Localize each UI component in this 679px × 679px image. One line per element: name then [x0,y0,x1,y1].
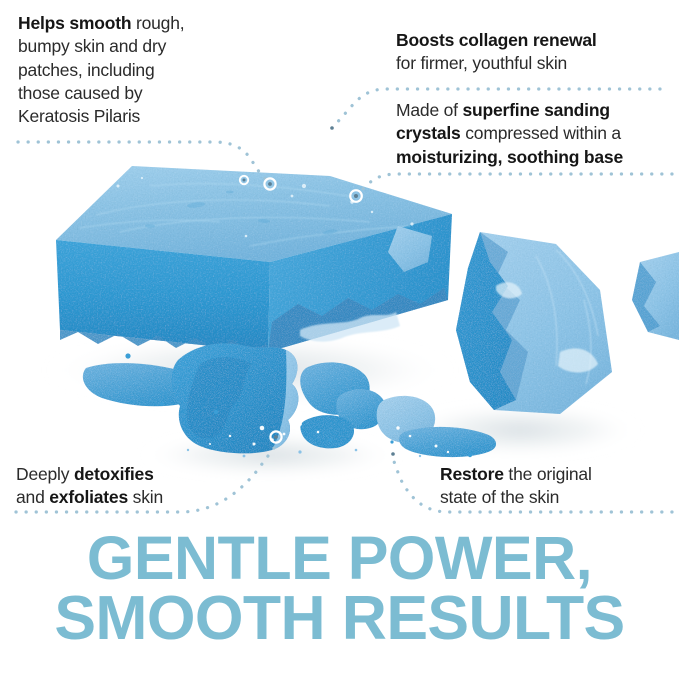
headline-line-1: GENTLE POWER, [0,529,679,588]
callout-helps-smooth: Helps smooth rough, bumpy skin and dry p… [18,12,268,128]
seg-detoxifies: detoxifies [74,464,154,484]
headline-line-2: SMOOTH RESULTS [0,588,679,649]
callout-helps-smooth-bold: Helps smooth [18,13,131,33]
callout-superfine-crystals: Made of superfine sanding crystals compr… [396,99,674,169]
callout-deeply-detoxifies: Deeply detoxifies and exfoliates skin [16,463,256,510]
seg-made-of: Made of [396,100,463,120]
connector-endpoint-markers [240,123,398,459]
connector-crystals [358,174,672,194]
callout-boosts-collagen: Boosts collagen renewal for firmer, yout… [396,29,666,76]
seg-skin: skin [128,487,163,507]
callout-restore-original-state: Restore the original state of the skin [440,463,679,510]
headline: GENTLE POWER, SMOOTH RESULTS [0,529,679,649]
seg-exfoliates: exfoliates [49,487,128,507]
infographic-canvas: Helps smooth rough, bumpy skin and dry p… [0,0,679,679]
callout-boosts-collagen-rest: for firmer, youthful skin [396,53,567,73]
seg-compressed-within-a: compressed within a [461,123,621,143]
seg-and: and [16,487,49,507]
seg-moisturizing-soothing-base: moisturizing, soothing base [396,147,623,167]
connector-smooth [18,142,268,182]
callout-boosts-collagen-bold: Boosts collagen renewal [396,30,597,50]
callout-restore-bold: Restore [440,464,504,484]
seg-deeply: Deeply [16,464,74,484]
